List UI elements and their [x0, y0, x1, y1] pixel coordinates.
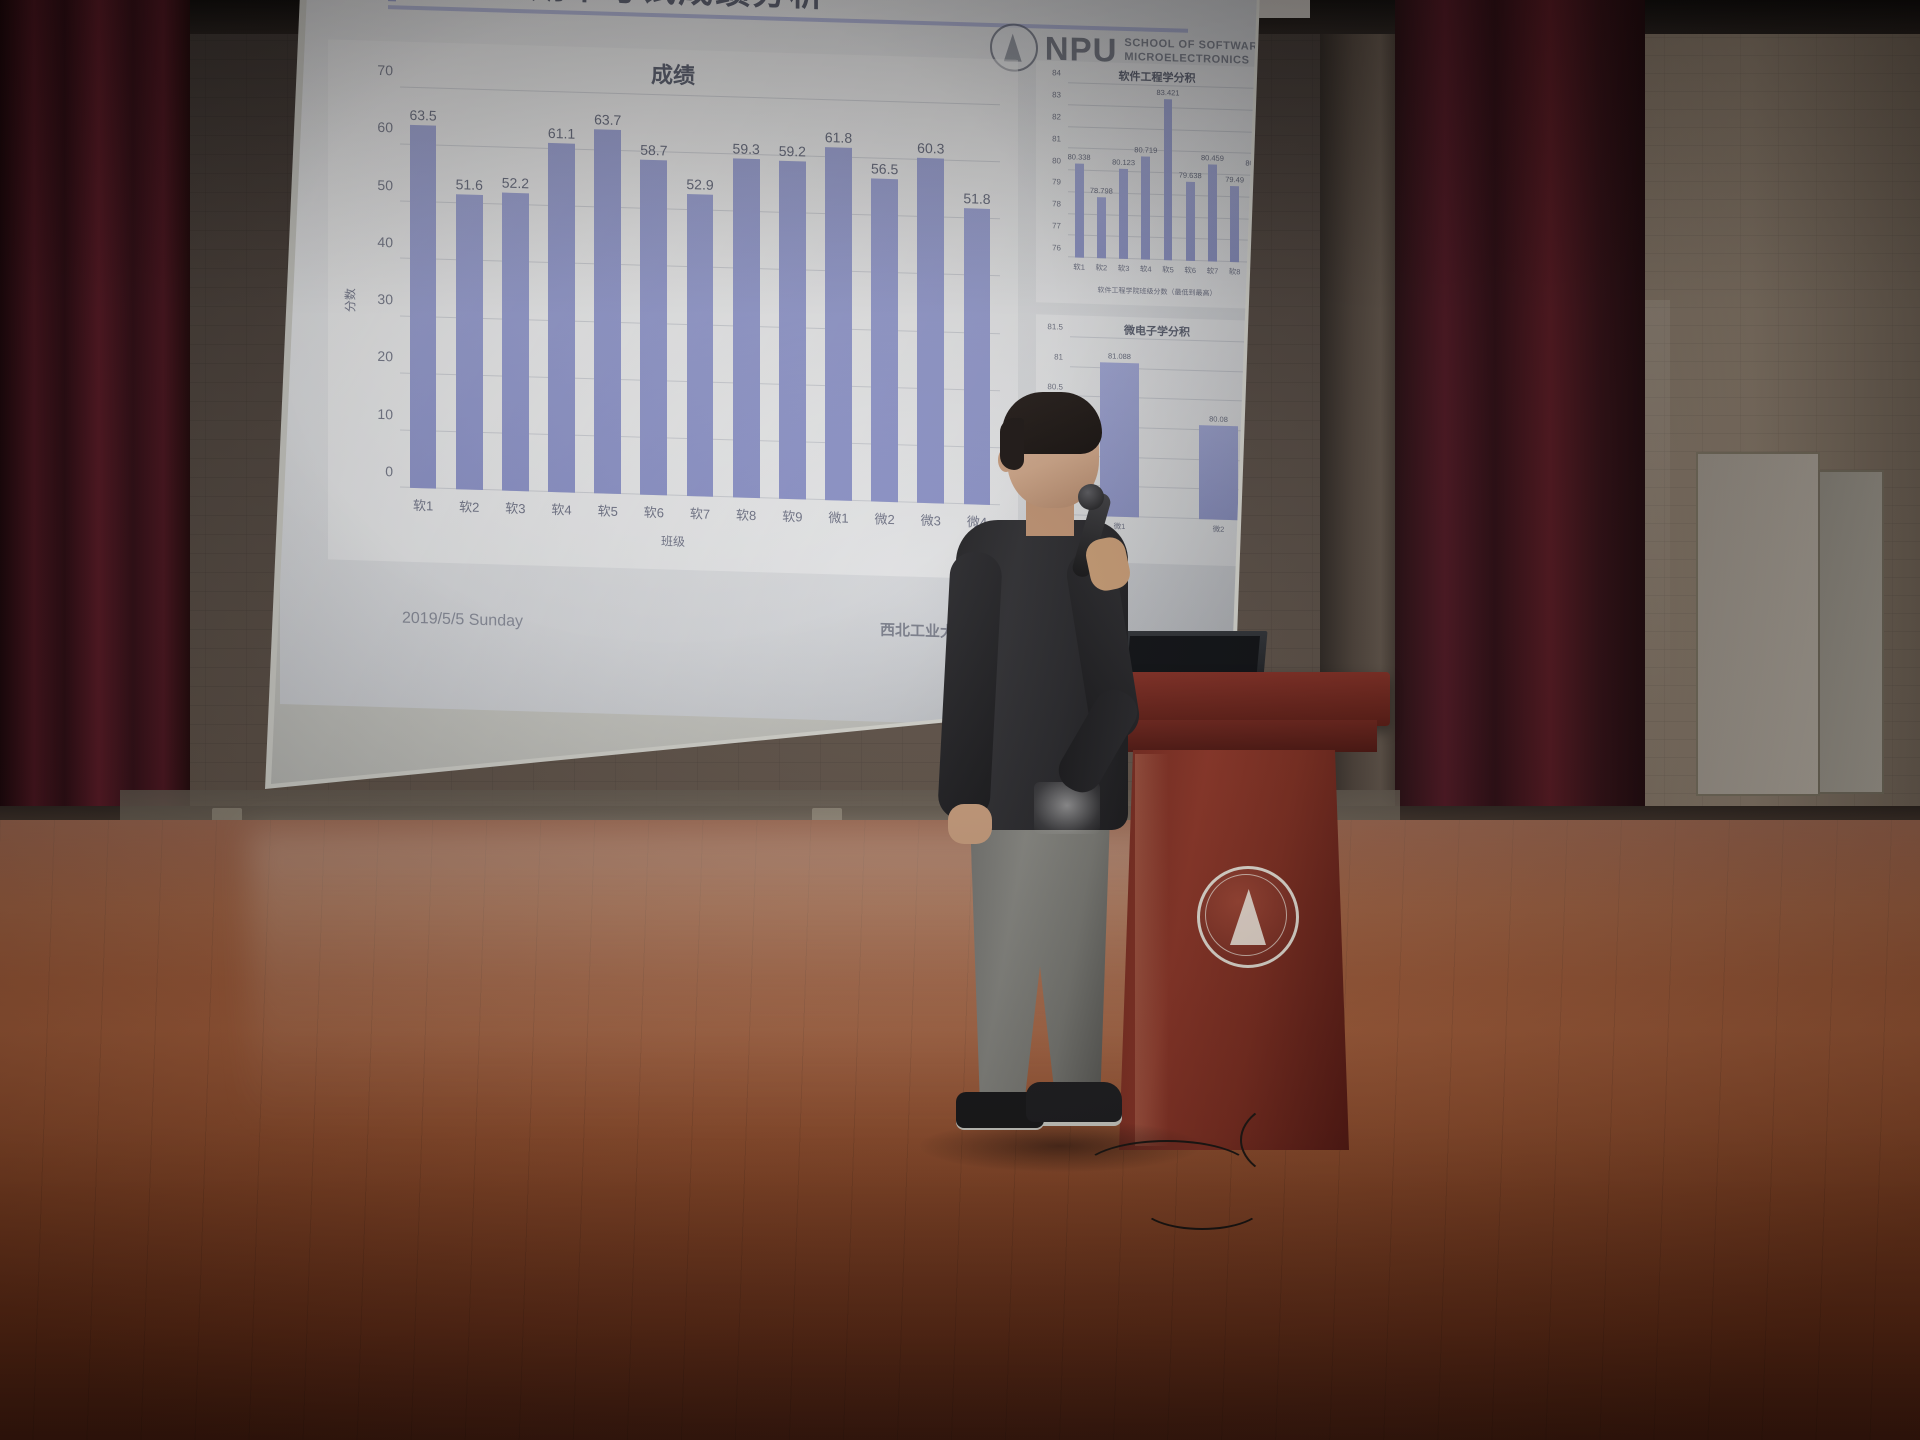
bar: [1230, 186, 1239, 262]
bar-value-label: 60.3: [917, 140, 944, 157]
bar: [779, 160, 806, 499]
bar-value-label: 81.088: [1108, 352, 1131, 362]
bar-group: 63.5软1: [400, 88, 446, 489]
bar-value-label: 63.5: [409, 107, 436, 124]
x-axis-tick: 软3: [505, 498, 525, 518]
bar: [1097, 197, 1106, 258]
x-axis-tick: 微2: [1213, 524, 1225, 535]
y-axis-tick: 77: [1052, 221, 1061, 230]
bar: [733, 159, 760, 499]
bar-value-label: 51.6: [456, 176, 483, 193]
bar-value-label: 79.638: [1179, 170, 1202, 180]
bar-group: 52.9软7: [677, 96, 723, 497]
bar: [1199, 425, 1239, 520]
bar-value-label: 58.7: [640, 141, 667, 158]
bar-value-label: 51.8: [963, 190, 990, 207]
bar-group: 80.459软7: [1201, 87, 1223, 262]
bar: [871, 179, 898, 503]
bar-group: 51.6软2: [446, 89, 492, 490]
bar: [640, 159, 667, 495]
y-axis-tick: 40: [377, 234, 393, 250]
chart-scores-plot: 010203040506070 63.5软151.6软252.2软361.1软4…: [400, 88, 1000, 506]
bar: [502, 192, 529, 491]
y-axis-tick: 10: [377, 406, 393, 422]
y-axis-tick: 79: [1052, 178, 1061, 187]
y-axis-tick: 76: [1052, 243, 1061, 252]
presenter-hand-left: [948, 804, 992, 844]
bar-group: 59.2软9: [769, 98, 815, 499]
bar-value-label: 80.459: [1201, 153, 1224, 163]
y-axis-tick: 81: [1054, 352, 1063, 361]
x-axis-tick: 软4: [1140, 263, 1152, 274]
bar-group: 80.338软1: [1068, 83, 1090, 258]
x-axis-tick: 微1: [828, 507, 848, 527]
x-axis-tick: 软5: [1162, 264, 1174, 275]
y-axis-tick: 84: [1052, 68, 1061, 77]
bar-value-label: 79.49: [1225, 175, 1244, 185]
bar-group: 79.49软8: [1224, 88, 1246, 263]
bar-group: 63.7软5: [585, 93, 631, 494]
bar-group: 61.8微1: [815, 100, 861, 501]
bar-value-label: 80.123: [1112, 158, 1135, 168]
presenter: [930, 392, 1140, 1152]
bar: [1075, 163, 1084, 258]
slide-footer-date: 2019/5/5 Sunday: [402, 610, 523, 632]
chart-scores-ylabel: 分数: [342, 288, 359, 313]
x-axis-tick: 软3: [1118, 263, 1130, 274]
stage-curtain-right: [1395, 0, 1645, 880]
y-axis-tick: 81: [1052, 134, 1061, 143]
x-axis-tick: 软7: [1207, 265, 1219, 276]
presenter-legs: [964, 816, 1116, 1106]
y-axis-tick: 82: [1052, 112, 1061, 121]
bar-value-label: 83.421: [1157, 87, 1180, 97]
bar: [594, 129, 621, 494]
bar-value-label: 52.9: [686, 176, 713, 193]
bar: [687, 194, 714, 497]
bar-group: 80.719软4: [1135, 85, 1157, 260]
lecture-hall-photo: 期中考试成绩分析 NPU SCHOOL OF SOFTWARE & MICROE…: [0, 0, 1920, 1440]
y-axis-tick: 81.5: [1047, 322, 1063, 331]
x-axis-tick: 软1: [1073, 261, 1085, 272]
side-door: [1696, 452, 1820, 796]
x-axis-tick: 微2: [875, 509, 895, 529]
floor-cable: [1140, 1180, 1264, 1230]
x-axis-tick: 软9: [782, 506, 802, 526]
presenter-shoe-right: [1026, 1082, 1122, 1122]
stage-curtain-left: [0, 0, 190, 900]
floor-cable: [1240, 1098, 1364, 1182]
bar-group: 52.2软3: [492, 90, 538, 491]
x-axis-tick: 软2: [1095, 262, 1107, 273]
bar-group: 61.1软4: [538, 92, 584, 493]
bar-group: 56.5微2: [862, 101, 908, 502]
chart-se-credit: 软件工程学分积 767778798081828384 80.338软178.79…: [1036, 60, 1260, 309]
chart-se-credit-xlabel: 软件工程学院班级分数（最低到最高）: [1036, 283, 1260, 300]
bar: [1119, 169, 1128, 259]
side-door-secondary: [1818, 470, 1884, 794]
y-axis-tick: 0: [385, 463, 393, 479]
bar-group: 78.798软2: [1090, 84, 1112, 259]
bar-group: 58.7软6: [631, 94, 677, 495]
y-axis-tick: 30: [377, 291, 393, 307]
x-axis-tick: 软4: [551, 499, 571, 519]
bar-value-label: 61.1: [548, 125, 575, 142]
x-axis-tick: 软7: [690, 503, 710, 523]
title-accent-bar: [388, 0, 396, 1]
y-axis-tick: 70: [377, 62, 393, 78]
chart-scores-xlabel: 班级: [328, 522, 1018, 559]
x-axis-tick: 软8: [1229, 266, 1241, 277]
y-axis-tick: 83: [1052, 90, 1061, 99]
y-axis-tick: 78: [1052, 200, 1061, 209]
y-axis-tick: 50: [377, 176, 393, 192]
bar-value-label: 52.2: [502, 174, 529, 191]
chart-scores: 成绩 分数 010203040506070 63.5软151.6软252.2软3…: [328, 39, 1018, 579]
bar: [548, 143, 575, 493]
x-axis-tick: 软2: [459, 496, 479, 516]
y-axis-tick: 80: [1052, 156, 1061, 165]
x-axis-tick: 软6: [1184, 265, 1196, 276]
bar-value-label: 59.3: [733, 141, 760, 158]
bar: [825, 147, 852, 501]
y-axis-tick: 60: [377, 119, 393, 135]
bar: [410, 125, 437, 489]
bar: [1164, 99, 1173, 261]
bar-value-label: 80.08: [1209, 415, 1228, 425]
bar-value-label: 59.2: [779, 142, 806, 159]
bar-value-label: 61.8: [825, 129, 852, 146]
bar-value-label: 80.719: [1134, 146, 1157, 156]
x-axis-tick: 软6: [644, 502, 664, 522]
x-axis-tick: 软5: [598, 500, 618, 520]
bar-value-label: 80.338: [1068, 152, 1091, 162]
bar: [1141, 157, 1150, 260]
bar-group: 80.123软3: [1112, 85, 1134, 260]
bar-value-label: 78.798: [1090, 186, 1113, 196]
bar-value-label: 56.5: [871, 161, 898, 178]
x-axis-tick: 软1: [413, 495, 433, 515]
bar-group: 59.3软8: [723, 97, 769, 498]
bar: [1186, 182, 1195, 261]
x-axis-tick: 软8: [736, 504, 756, 524]
bar-group: 79.638软6: [1179, 87, 1201, 262]
y-axis-tick: 20: [377, 348, 393, 364]
chart-se-credit-plot: 767778798081828384 80.338软178.798软280.12…: [1068, 83, 1260, 263]
y-axis-tick: 80.5: [1047, 382, 1063, 391]
bar-group: 83.421软5: [1157, 86, 1179, 261]
bar: [1208, 164, 1217, 261]
bar-value-label: 63.7: [594, 111, 621, 128]
bar: [456, 194, 483, 490]
